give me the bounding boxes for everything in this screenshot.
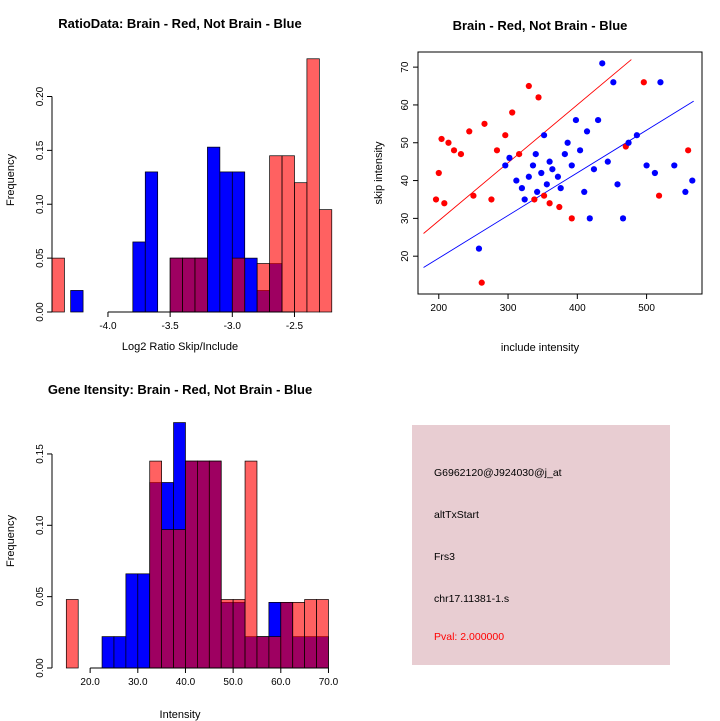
scatter-title: Brain - Red, Not Brain - Blue: [360, 18, 720, 33]
hist-bar: [233, 600, 245, 668]
scatter-point: [445, 140, 451, 146]
scatter-point: [535, 94, 541, 100]
scatter-point: [466, 128, 472, 134]
scatter-point: [438, 136, 444, 142]
scatter-point: [526, 83, 532, 89]
hist-bar: [102, 637, 114, 668]
x-tick-label: 20.0: [80, 677, 100, 688]
y-tick-label: 50: [400, 137, 411, 149]
scatter-point: [433, 196, 439, 202]
hist-bar: [150, 461, 162, 668]
scatter-series-1: [476, 60, 696, 251]
info-line-3: chr17.11381-1.s: [434, 593, 509, 605]
ratio-hist-xlabel: Log2 Ratio Skip/Include: [0, 341, 360, 353]
hist-bar: [207, 147, 219, 312]
hist-bar: [232, 258, 244, 312]
scatter-point: [544, 181, 550, 187]
scatter-point: [565, 140, 571, 146]
series-1: [52, 59, 332, 312]
scatter-point: [556, 204, 562, 210]
hist-bar: [257, 637, 269, 668]
figure-root: RatioData: Brain - Red, Not Brain - Blue…: [0, 0, 720, 720]
y-tick-label: 0.15: [35, 444, 46, 464]
scatter-point: [634, 132, 640, 138]
axes: 200300400500203040506070: [400, 61, 655, 314]
scatter-point: [547, 159, 553, 165]
panel-scatter: Brain - Red, Not Brain - Blue 2003004005…: [360, 0, 720, 360]
hist-bar: [195, 258, 207, 312]
scatter-point: [441, 200, 447, 206]
hist-bar: [183, 258, 195, 312]
scatter-point: [470, 193, 476, 199]
hist-bar: [209, 461, 221, 668]
scatter-point: [502, 162, 508, 168]
x-tick-label: -3.0: [224, 321, 242, 332]
scatter-point: [689, 177, 695, 183]
panel-ratio-histogram: RatioData: Brain - Red, Not Brain - Blue…: [0, 0, 360, 360]
scatter-point: [581, 189, 587, 195]
y-axis-label: skip intensity: [373, 141, 385, 204]
hist-bar: [270, 156, 282, 312]
y-axis-label: Frequency: [5, 515, 17, 567]
scatter-point: [569, 162, 575, 168]
hist-bar: [317, 600, 329, 668]
scatter-point: [494, 147, 500, 153]
hist-bar: [170, 258, 182, 312]
scatter-point: [657, 79, 663, 85]
info-line-0: G6962120@J924030@j_at: [434, 467, 562, 479]
hist-bar: [294, 183, 306, 312]
y-tick-label: 0.00: [35, 302, 46, 322]
scatter-point: [577, 147, 583, 153]
y-tick-label: 0.00: [35, 658, 46, 678]
scatter-point: [534, 189, 540, 195]
hist-bar: [52, 258, 64, 312]
x-tick-label: 300: [500, 303, 517, 314]
scatter-point: [614, 181, 620, 187]
x-tick-label: 500: [638, 303, 655, 314]
x-tick-label: -3.5: [162, 321, 180, 332]
scatter-point: [656, 193, 662, 199]
x-tick-label: 200: [430, 303, 447, 314]
scatter-point: [479, 280, 485, 286]
hist-bar: [257, 264, 269, 312]
y-tick-label: 70: [400, 61, 411, 73]
scatter-point: [481, 121, 487, 127]
info-line-1: altTxStart: [434, 509, 479, 521]
hist-bar: [245, 258, 257, 312]
ratio-hist-title: RatioData: Brain - Red, Not Brain - Blue: [0, 16, 360, 31]
ratio-histogram: -4.0-3.5-3.0-2.50.000.050.100.150.20Freq…: [5, 59, 332, 332]
scatter-point: [587, 215, 593, 221]
hist-bar: [281, 602, 293, 668]
y-tick-label: 40: [400, 175, 411, 187]
hist-bar: [245, 461, 257, 668]
scatter-point: [516, 151, 522, 157]
hist-bar: [71, 290, 83, 312]
hist-bar: [319, 210, 331, 312]
scatter-point: [671, 162, 677, 168]
scatter-point: [506, 155, 512, 161]
scatter-point: [591, 166, 597, 172]
hist-bar: [126, 574, 138, 668]
x-tick-label: 30.0: [128, 677, 148, 688]
scatter-point: [502, 132, 508, 138]
hist-bar: [138, 574, 150, 668]
scatter-point: [513, 177, 519, 183]
plot-frame: [418, 52, 702, 294]
hist-bar: [185, 461, 197, 668]
scatter-point: [605, 159, 611, 165]
hist-bar: [220, 172, 232, 312]
scatter-point: [584, 128, 590, 134]
gene-hist-xlabel: Intensity: [0, 709, 360, 721]
scatter-point: [533, 151, 539, 157]
scatter-point: [549, 166, 555, 172]
hist-bar: [162, 530, 174, 668]
scatter-point: [652, 170, 658, 176]
hist-bar: [269, 637, 281, 668]
scatter-plot: 200300400500203040506070skip intensity: [360, 32, 720, 342]
scatter-point: [625, 140, 631, 146]
scatter-point: [541, 193, 547, 199]
scatter-point: [643, 162, 649, 168]
y-tick-label: 0.05: [35, 248, 46, 268]
y-tick-label: 0.05: [35, 586, 46, 606]
x-tick-label: -2.5: [286, 321, 304, 332]
info-pval: Pval: 2.000000: [434, 631, 504, 643]
scatter-point: [547, 200, 553, 206]
x-tick-label: -4.0: [99, 321, 117, 332]
hist-bar: [293, 602, 305, 668]
y-axis-label: Frequency: [5, 154, 17, 206]
scatter-point: [541, 132, 547, 138]
fit-line-blue-fit: [424, 101, 694, 267]
hist-bar: [307, 59, 319, 312]
scatter-point: [476, 246, 482, 252]
scatter-point: [451, 147, 457, 153]
panel-info: G6962120@J924030@j_at altTxStart Frs3 ch…: [412, 425, 670, 665]
scatter-point: [569, 215, 575, 221]
y-tick-label: 0.10: [35, 194, 46, 214]
scatter-point: [558, 185, 564, 191]
scatter-point: [620, 215, 626, 221]
y-tick-label: 60: [400, 99, 411, 111]
scatter-point: [522, 196, 528, 202]
scatter-point: [531, 196, 537, 202]
scatter-point: [555, 174, 561, 180]
scatter-point: [682, 189, 688, 195]
x-tick-label: 40.0: [176, 677, 196, 688]
scatter-point: [573, 117, 579, 123]
scatter-point: [562, 151, 568, 157]
hist-bar: [221, 600, 233, 668]
hist-bar: [66, 600, 78, 668]
y-tick-label: 0.20: [35, 86, 46, 106]
panel-gene-histogram: Gene Itensity: Brain - Red, Not Brain - …: [0, 360, 360, 720]
x-tick-label: 60.0: [271, 677, 291, 688]
intensity-scatter: 200300400500203040506070skip intensity: [373, 52, 702, 314]
scatter-point: [538, 170, 544, 176]
hist-bar: [282, 156, 294, 312]
plot-area: [424, 60, 696, 286]
y-tick-label: 20: [400, 250, 411, 262]
x-tick-label: 70.0: [319, 677, 339, 688]
scatter-point: [641, 79, 647, 85]
scatter-point: [685, 147, 691, 153]
scatter-point: [595, 117, 601, 123]
scatter-point: [436, 170, 442, 176]
hist-bar: [145, 172, 157, 312]
hist-bar: [174, 530, 186, 668]
info-line-2: Frs3: [434, 551, 455, 563]
y-tick-label: 0.10: [35, 515, 46, 535]
x-tick-label: 400: [569, 303, 586, 314]
scatter-point: [599, 60, 605, 66]
scatter-point: [519, 185, 525, 191]
scatter-point: [530, 162, 536, 168]
scatter-point: [610, 79, 616, 85]
x-tick-label: 50.0: [223, 677, 243, 688]
gene-hist-title: Gene Itensity: Brain - Red, Not Brain - …: [0, 382, 360, 397]
scatter-point: [526, 174, 532, 180]
scatter-point: [458, 151, 464, 157]
scatter-point: [488, 196, 494, 202]
gene-hist-plot: 20.030.040.050.060.070.00.000.050.100.15…: [0, 396, 360, 716]
hist-bar: [197, 461, 209, 668]
hist-bar: [133, 242, 145, 312]
scatter-xlabel: include intensity: [360, 342, 720, 354]
scatter-point: [509, 109, 515, 115]
ratio-hist-plot: -4.0-3.5-3.0-2.50.000.050.100.150.20Freq…: [0, 30, 360, 360]
hist-bar: [305, 600, 317, 668]
hist-bar: [114, 637, 126, 668]
y-tick-label: 30: [400, 212, 411, 224]
y-tick-label: 0.15: [35, 140, 46, 160]
gene-intensity-histogram: 20.030.040.050.060.070.00.000.050.100.15…: [5, 423, 339, 688]
